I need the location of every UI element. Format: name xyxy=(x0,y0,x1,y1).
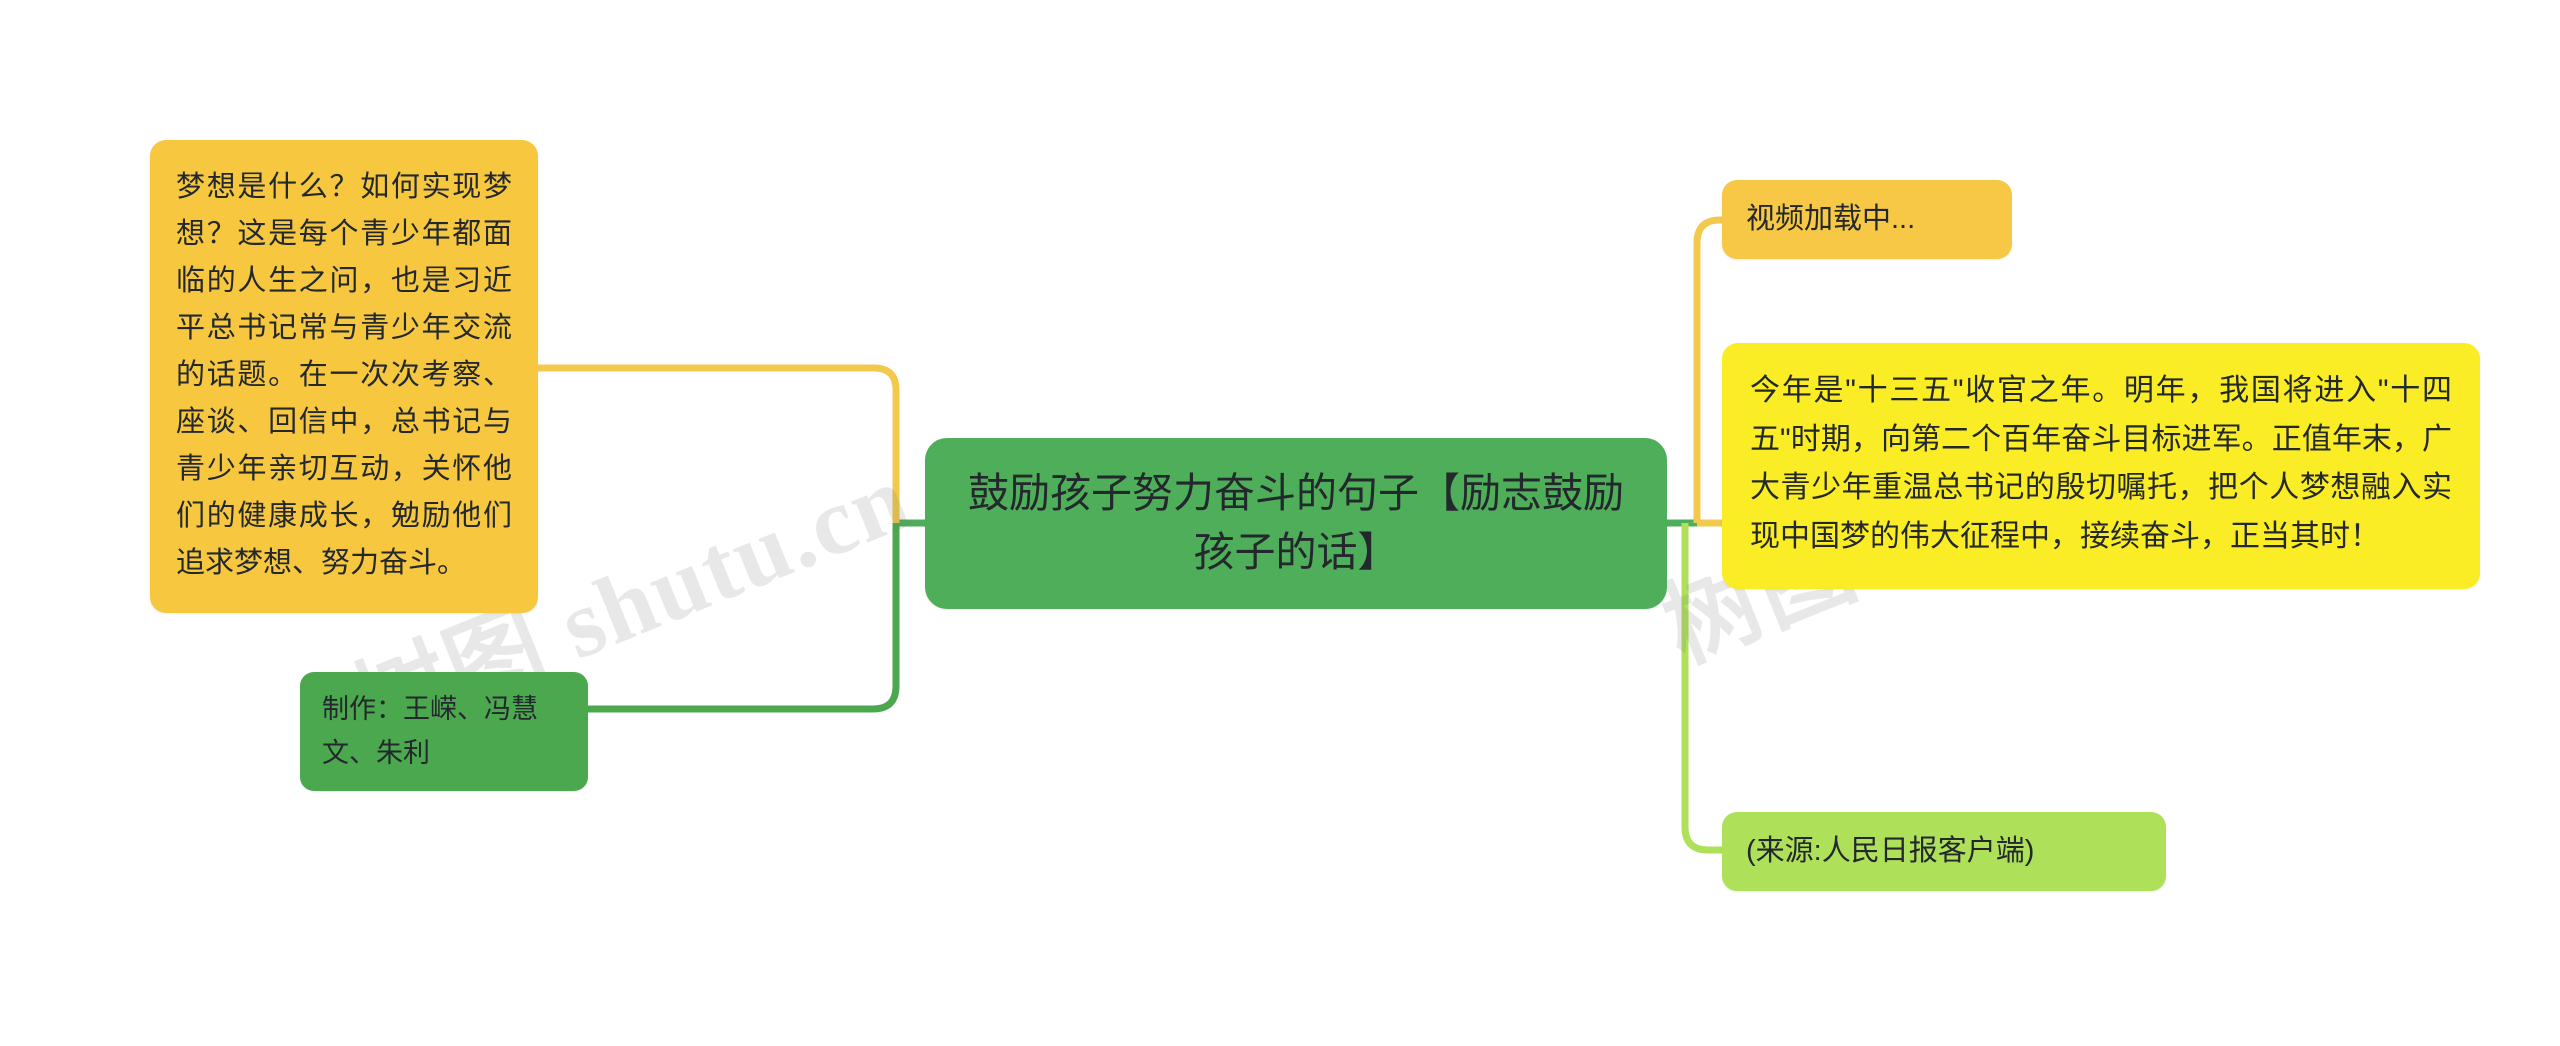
connector-left-credits xyxy=(588,523,896,709)
connector-right-video xyxy=(1697,220,1722,523)
node-credits[interactable]: 制作：王嵘、冯慧文、朱利 xyxy=(300,672,588,791)
node-credits-text: 制作：王嵘、冯慧文、朱利 xyxy=(322,688,566,775)
node-source-text: (来源:人民日报客户端) xyxy=(1746,828,2142,875)
node-video-loading-text: 视频加载中... xyxy=(1746,196,1988,243)
connector-right-source xyxy=(1685,523,1722,850)
node-video-loading[interactable]: 视频加载中... xyxy=(1722,180,2012,259)
node-intro-text: 梦想是什么？如何实现梦想？这是每个青少年都面临的人生之问，也是习近平总书记常与青… xyxy=(176,164,512,587)
connector-left-intro xyxy=(538,368,896,523)
node-source[interactable]: (来源:人民日报客户端) xyxy=(1722,812,2166,891)
node-paragraph[interactable]: 今年是"十三五"收官之年。明年，我国将进入"十四五"时期，向第二个百年奋斗目标进… xyxy=(1722,343,2480,589)
node-paragraph-text: 今年是"十三五"收官之年。明年，我国将进入"十四五"时期，向第二个百年奋斗目标进… xyxy=(1750,367,2452,561)
node-root[interactable]: 鼓励孩子努力奋斗的句子【励志鼓励孩子的话】 xyxy=(925,438,1667,609)
node-root-text: 鼓励孩子努力奋斗的句子【励志鼓励孩子的话】 xyxy=(959,464,1633,583)
node-intro[interactable]: 梦想是什么？如何实现梦想？这是每个青少年都面临的人生之问，也是习近平总书记常与青… xyxy=(150,140,538,613)
mindmap-canvas: 梦想是什么？如何实现梦想？这是每个青少年都面临的人生之问，也是习近平总书记常与青… xyxy=(0,0,2560,1046)
